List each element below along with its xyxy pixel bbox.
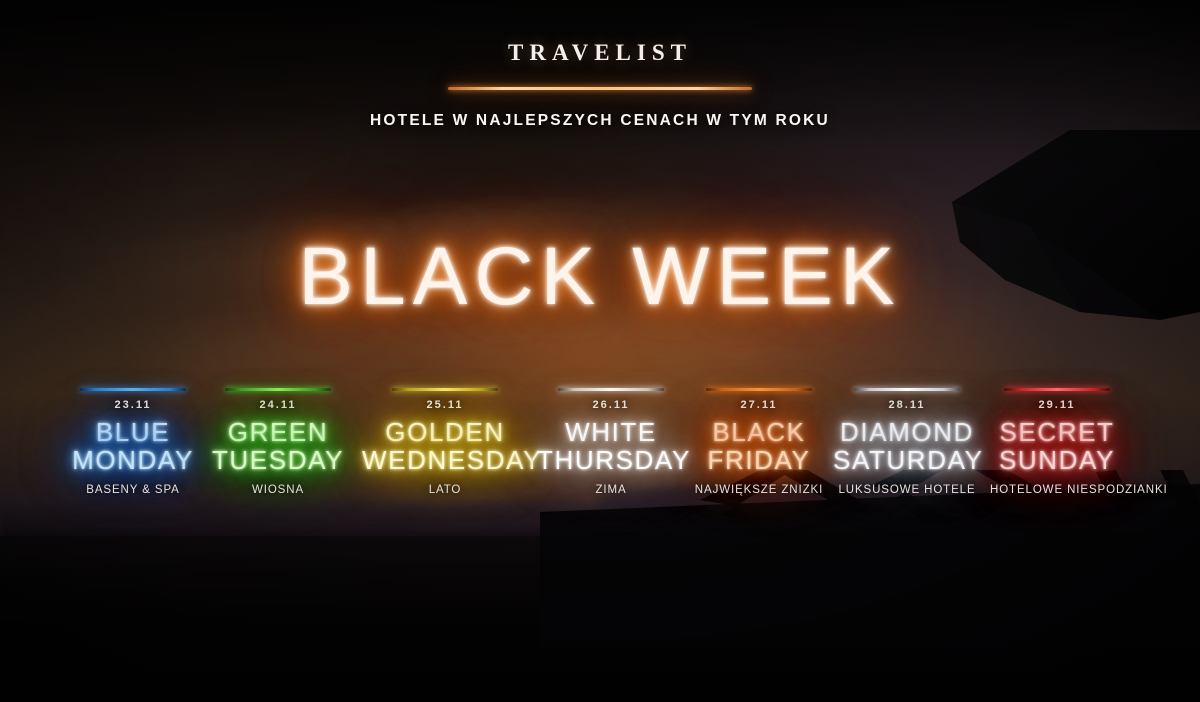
day-card-description: LUKSUSOWE HOTELE	[833, 484, 981, 496]
day-card-rule	[854, 388, 960, 391]
day-card-rule	[392, 388, 498, 391]
day-card-name-line2: SUNDAY	[990, 446, 1124, 474]
day-card-friday[interactable]: 27.11BLACKFRIDAYNAJWIĘKSZE ZNIZKI	[694, 388, 824, 496]
day-card-date: 26.11	[537, 399, 685, 411]
day-card-rule	[80, 388, 186, 391]
day-card-monday[interactable]: 23.11BLUEMONDAYBASENY & SPA	[62, 388, 204, 496]
day-card-name-line1: GOLDEN	[385, 417, 504, 447]
day-card-name: SECRETSUNDAY	[990, 418, 1124, 474]
tagline: HOTELE W NAJLEPSZYCH CENACH W TYM ROKU	[0, 112, 1200, 130]
day-card-name-line1: DIAMOND	[840, 417, 974, 447]
hero-section: BLACK WEEK	[0, 236, 1200, 318]
day-card-name: WHITETHURSDAY	[537, 418, 685, 474]
day-cards-row: 23.11BLUEMONDAYBASENY & SPA24.11GREENTUE…	[0, 388, 1200, 508]
day-card-rule	[558, 388, 664, 391]
day-card-rule	[225, 388, 331, 391]
foreground-water-deck	[0, 536, 1200, 702]
day-card-description: ZIMA	[537, 484, 685, 496]
day-card-name-line1: SECRET	[999, 417, 1114, 447]
brand-divider	[448, 87, 752, 90]
day-card-name-line1: BLACK	[712, 417, 805, 447]
promo-poster: TRAVELIST HOTELE W NAJLEPSZYCH CENACH W …	[0, 0, 1200, 702]
day-card-thursday[interactable]: 26.11WHITETHURSDAYZIMA	[537, 388, 685, 496]
day-card-name: BLACKFRIDAY	[694, 418, 824, 474]
day-card-date: 29.11	[990, 399, 1124, 411]
day-card-name: GREENTUESDAY	[207, 418, 349, 474]
day-card-name-line2: MONDAY	[62, 446, 204, 474]
day-card-description: HOTELOWE NIESPODZIANKI	[990, 484, 1124, 496]
day-card-name-line2: SATURDAY	[833, 446, 981, 474]
day-card-date: 24.11	[207, 399, 349, 411]
day-card-name-line2: TUESDAY	[207, 446, 349, 474]
day-card-description: WIOSNA	[207, 484, 349, 496]
day-card-name-line2: FRIDAY	[694, 446, 824, 474]
day-card-name-line2: THURSDAY	[537, 446, 685, 474]
page-title: BLACK WEEK	[298, 236, 901, 318]
poster-header: TRAVELIST HOTELE W NAJLEPSZYCH CENACH W …	[0, 40, 1200, 130]
day-card-name: BLUEMONDAY	[62, 418, 204, 474]
day-card-date: 27.11	[694, 399, 824, 411]
day-card-rule	[1004, 388, 1110, 391]
day-card-date: 25.11	[362, 399, 528, 411]
day-card-name: DIAMONDSATURDAY	[833, 418, 981, 474]
day-card-saturday[interactable]: 28.11DIAMONDSATURDAYLUKSUSOWE HOTELE	[833, 388, 981, 496]
brand-title: TRAVELIST	[0, 40, 1200, 66]
day-card-name-line1: GREEN	[228, 417, 328, 447]
day-card-tuesday[interactable]: 24.11GREENTUESDAYWIOSNA	[207, 388, 349, 496]
day-card-description: BASENY & SPA	[62, 484, 204, 496]
day-card-date: 23.11	[62, 399, 204, 411]
day-card-name: GOLDENWEDNESDAY	[362, 418, 528, 474]
day-card-sunday[interactable]: 29.11SECRETSUNDAYHOTELOWE NIESPODZIANKI	[990, 388, 1124, 496]
day-card-name-line2: WEDNESDAY	[362, 446, 528, 474]
day-card-description: NAJWIĘKSZE ZNIZKI	[694, 484, 824, 496]
day-card-name-line1: BLUE	[96, 417, 170, 447]
day-card-rule	[706, 388, 812, 391]
day-card-wednesday[interactable]: 25.11GOLDENWEDNESDAYLATO	[362, 388, 528, 496]
day-card-description: LATO	[362, 484, 528, 496]
day-card-name-line1: WHITE	[565, 417, 657, 447]
day-card-date: 28.11	[833, 399, 981, 411]
